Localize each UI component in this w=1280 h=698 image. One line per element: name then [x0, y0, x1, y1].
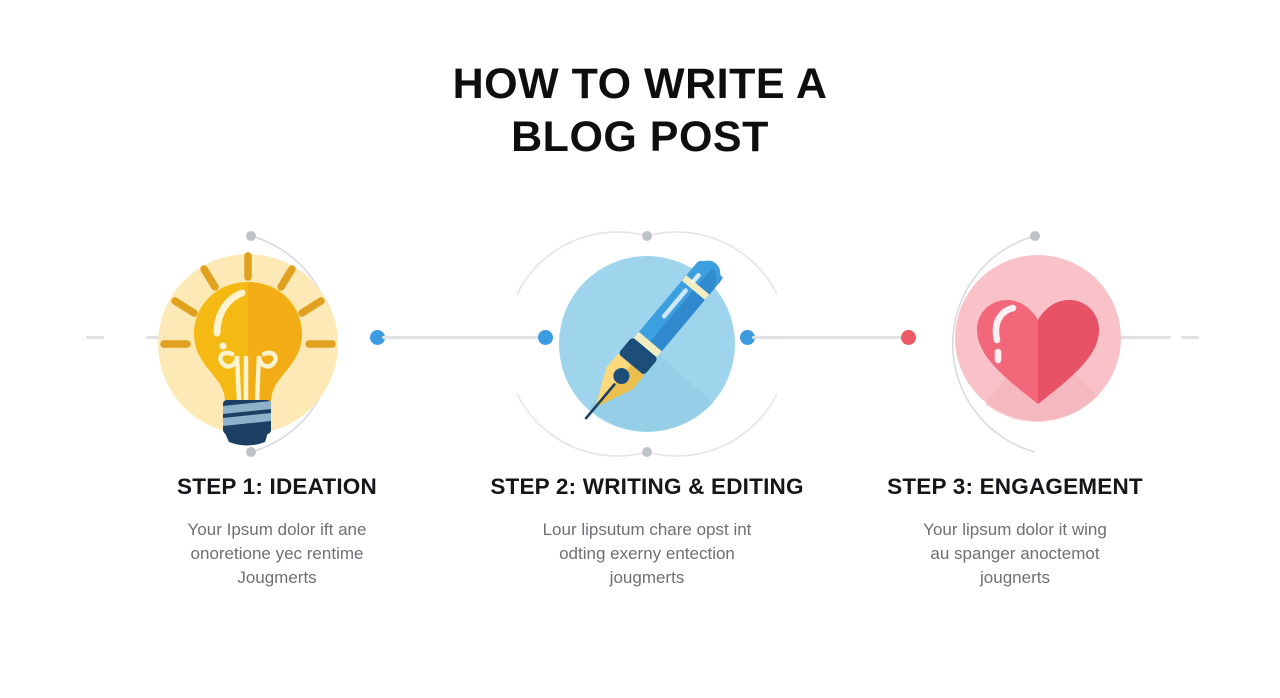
step-3-body-line-1: Your lipsum dolor it wing	[829, 518, 1201, 542]
step-1-body-line-2: onoretione yec rentime	[91, 542, 463, 566]
step-1-arc-dot-bottom	[246, 447, 256, 457]
step-1-body-line-1: Your Ipsum dolor ift ane	[91, 518, 463, 542]
steps-container: STEP 1: IDEATION Your Ipsum dolor ift an…	[0, 0, 1280, 698]
heart-icon	[885, 228, 1145, 460]
step-3-title: STEP 3: ENGAGEMENT	[829, 474, 1201, 500]
step-1-arc-dot-top	[246, 231, 256, 241]
step-3-body: Your lipsum dolor it wing au spanger ano…	[829, 518, 1201, 590]
step-2-arc-dot-top	[642, 231, 652, 241]
infographic-canvas: HOW TO WRITE A BLOG POST	[0, 0, 1280, 698]
step-1-icon-wrap	[91, 228, 463, 460]
step-1-title: STEP 1: IDEATION	[91, 474, 463, 500]
step-3-body-line-2: au spanger anoctemot	[829, 542, 1201, 566]
fountain-pen-icon	[517, 228, 777, 460]
step-1-bulb-highlight-dot	[219, 342, 226, 349]
step-3-icon-wrap	[829, 228, 1201, 460]
step-2-body-line-1: Lour lipsutum chare opst int	[461, 518, 833, 542]
step-2-title: STEP 2: WRITING & EDITING	[461, 474, 833, 500]
step-1-bulb-base	[223, 400, 271, 446]
step-1-body: Your Ipsum dolor ift ane onoretione yec …	[91, 518, 463, 590]
step-3-arc-dot-top	[1030, 231, 1040, 241]
step-2-arc-dot-bottom	[642, 447, 652, 457]
step-2-body-line-2: odting exerny entection	[461, 542, 833, 566]
step-card-3[interactable]: STEP 3: ENGAGEMENT Your lipsum dolor it …	[829, 228, 1201, 590]
step-2-icon-wrap	[461, 228, 833, 460]
lightbulb-icon	[147, 228, 407, 460]
step-3-body-line-3: jougnerts	[829, 566, 1201, 590]
step-2-body: Lour lipsutum chare opst int odting exer…	[461, 518, 833, 590]
step-2-body-line-3: jougmerts	[461, 566, 833, 590]
step-card-1[interactable]: STEP 1: IDEATION Your Ipsum dolor ift an…	[91, 228, 463, 590]
step-1-body-line-3: Jougmerts	[91, 566, 463, 590]
step-card-2[interactable]: STEP 2: WRITING & EDITING Lour lipsutum …	[461, 228, 833, 590]
